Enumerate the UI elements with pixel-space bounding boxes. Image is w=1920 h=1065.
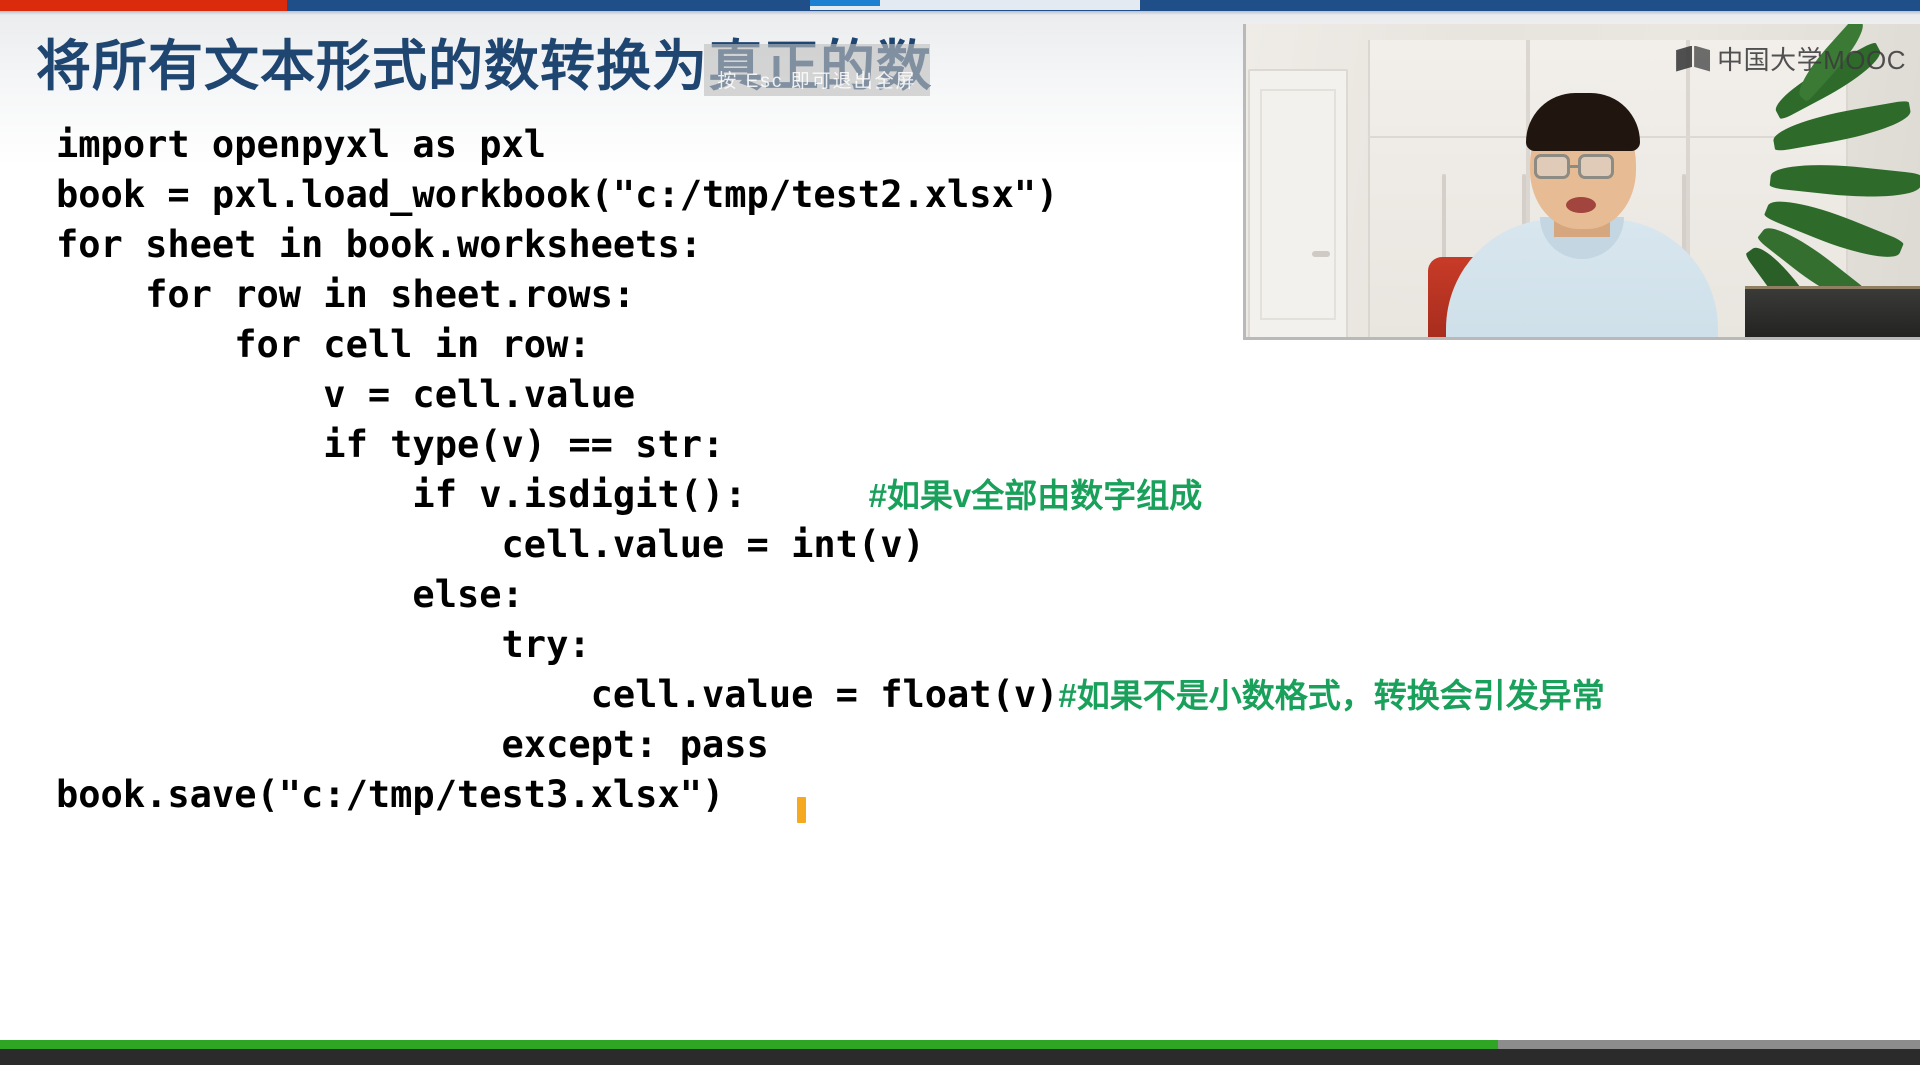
instructor-mouth <box>1566 197 1596 213</box>
code-comment: #如果v全部由数字组成 <box>869 477 1203 514</box>
code-line-text: if v.isdigit(): <box>56 473 747 516</box>
video-background-door <box>1248 69 1348 340</box>
code-line: try: <box>56 620 1846 670</box>
instructor-hair <box>1526 93 1640 151</box>
code-line-text: for cell in row: <box>56 323 591 366</box>
code-comment: #如果不是小数格式，转换会引发异常 <box>1058 677 1604 714</box>
code-line: except: pass <box>56 720 1846 770</box>
code-line-text: cell.value = float(v) <box>56 673 1058 716</box>
progress-bar-track[interactable] <box>0 1040 1920 1049</box>
code-line-text: book = pxl.load_workbook("c:/tmp/test2.x… <box>56 173 1058 216</box>
top-bar-shadow <box>0 11 1920 15</box>
code-line-text: for sheet in book.worksheets: <box>56 223 702 266</box>
video-background-shelf <box>1745 289 1920 337</box>
code-line-text: try: <box>56 623 591 666</box>
door-handle-icon <box>1312 251 1330 257</box>
cursor-marker-icon <box>797 797 806 823</box>
code-line-text: import openpyxl as pxl <box>56 123 546 166</box>
code-line-text: book.save("c:/tmp/test3.xlsx") <box>56 773 724 816</box>
code-line-text: for row in sheet.rows: <box>56 273 635 316</box>
code-line-text: v = cell.value <box>56 373 635 416</box>
code-line-text: cell.value = int(v) <box>56 523 925 566</box>
glasses-icon <box>1578 154 1614 179</box>
glasses-icon <box>1534 154 1570 179</box>
progress-bar-fill <box>0 1040 1498 1049</box>
player-stage: 将所有文本形式的数转换为真正的数 按 Esc 即可退出全屏 import ope… <box>0 0 1920 1065</box>
code-line-text: if type(v) == str: <box>56 423 724 466</box>
code-line: cell.value = int(v) <box>56 520 1846 570</box>
instructor-figure <box>1422 97 1742 337</box>
code-line: cell.value = float(v)#如果不是小数格式，转换会引发异常 <box>56 670 1846 720</box>
code-line: v = cell.value <box>56 370 1846 420</box>
mooc-watermark-text: 中国大学MOOC <box>1717 40 1906 77</box>
code-line: book.save("c:/tmp/test3.xlsx") <box>56 770 1846 820</box>
top-bar-red-segment <box>0 0 287 11</box>
instructor-video-panel[interactable]: 中国大学MOOC <box>1243 24 1920 340</box>
code-line-text: else: <box>56 573 524 616</box>
code-line: if v.isdigit():#如果v全部由数字组成 <box>56 470 1846 520</box>
exit-fullscreen-hint-text: 按 Esc 即可退出全屏 <box>717 66 916 93</box>
player-bottom-bar <box>0 1040 1920 1065</box>
slide-surface: 将所有文本形式的数转换为真正的数 按 Esc 即可退出全屏 import ope… <box>0 0 1920 1040</box>
glasses-bridge-icon <box>1570 165 1580 168</box>
code-line: else: <box>56 570 1846 620</box>
code-line-text: except: pass <box>56 723 769 766</box>
exit-fullscreen-hint: 按 Esc 即可退出全屏 <box>704 44 930 96</box>
mooc-watermark: 中国大学MOOC <box>1676 40 1906 77</box>
code-line: if type(v) == str: <box>56 420 1846 470</box>
open-book-icon <box>1676 46 1710 72</box>
top-bar-highlight-accent <box>810 0 880 6</box>
